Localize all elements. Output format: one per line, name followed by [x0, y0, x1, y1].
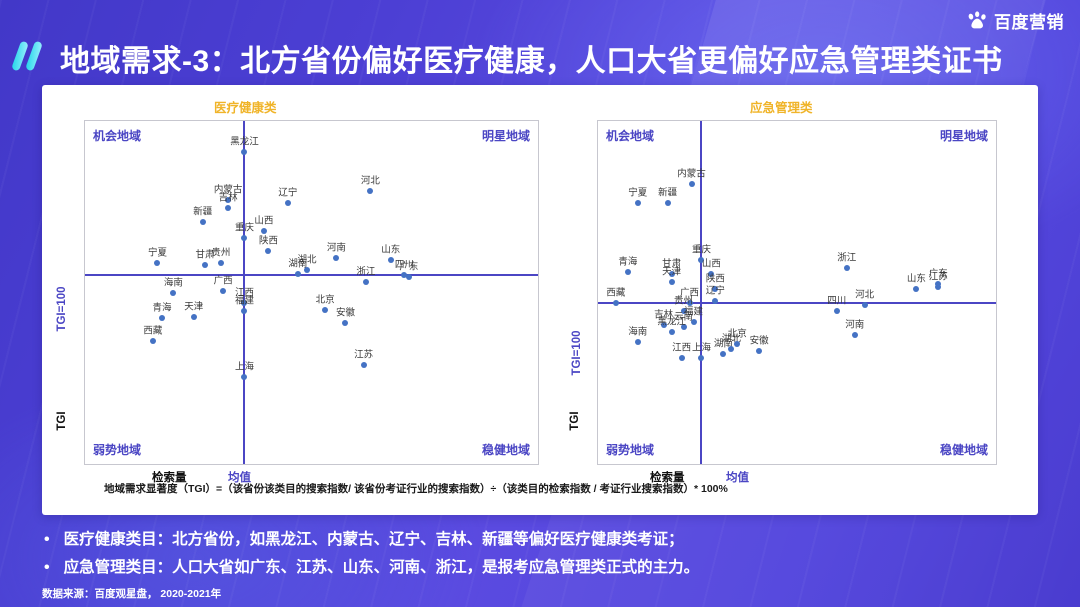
scatter-point [834, 308, 840, 314]
scatter-point [361, 362, 367, 368]
scatter-point-label: 海南 [164, 278, 183, 288]
scatter-point [756, 348, 762, 354]
scatter-point-label: 天津 [662, 268, 681, 278]
scatter-point [342, 320, 348, 326]
scatter-point-label: 宁夏 [628, 189, 647, 199]
scatter-point [241, 374, 247, 380]
scatter-point-label: 重庆 [235, 223, 254, 233]
scatter-point-label: 山西 [702, 259, 721, 269]
quadrant-label-weak: 弱势地域 [606, 441, 654, 458]
list-item: • 医疗健康类目：北方省份，如黑龙江、内蒙古、辽宁、吉林、新疆等偏好医疗健康类考… [44, 526, 1024, 554]
insight-bullet-list: • 医疗健康类目：北方省份，如黑龙江、内蒙古、辽宁、吉林、新疆等偏好医疗健康类考… [44, 526, 1024, 582]
scatter-point-label: 重庆 [692, 245, 711, 255]
scatter-point-label: 福建 [235, 297, 254, 307]
scatter-point [635, 200, 641, 206]
scatter-point-label: 辽宁 [706, 287, 725, 297]
scatter-point [170, 290, 176, 296]
data-source-note: 数据来源：百度观星盘， 2020-2021年 [42, 586, 221, 601]
scatter-point [241, 235, 247, 241]
scatter-point [712, 298, 718, 304]
tgi100-horizontal-line [598, 302, 996, 304]
scatter-point [154, 260, 160, 266]
scatter-point-label: 贵州 [674, 297, 693, 307]
quadrant-label-opportunity: 机会地域 [606, 127, 654, 144]
scatter-point-label: 浙江 [837, 254, 856, 264]
scatter-point-label: 山东 [907, 275, 926, 285]
scatter-point-label: 浙江 [356, 268, 375, 278]
brand-name: 百度营销 [994, 8, 1064, 33]
scatter-point [265, 248, 271, 254]
scatter-point [322, 307, 328, 313]
quadrant-label-steady: 稳健地域 [482, 441, 530, 458]
bullet-marker-icon: • [44, 554, 50, 582]
scatter-point [734, 341, 740, 347]
content-card: 医疗健康类 应急管理类 机会地域 明星地域 弱势地域 稳健地域 黑龙江内蒙古吉林… [42, 85, 1038, 515]
double-slash-accent-icon [0, 33, 56, 84]
scatter-point [150, 338, 156, 344]
scatter-point-label: 山东 [381, 245, 400, 255]
scatter-point-label: 上海 [692, 343, 711, 353]
scatter-point-label: 河北 [361, 177, 380, 187]
y-axis-tgi-label-left: TGI [56, 396, 68, 446]
scatter-point-label: 四川 [827, 297, 846, 307]
scatter-point-label: 安徽 [336, 309, 355, 319]
scatter-point-label: 辽宁 [278, 189, 297, 199]
scatter-point-label: 海南 [628, 328, 647, 338]
scatter-point-label: 吉林 [219, 194, 238, 204]
scatter-point-label: 贵州 [211, 249, 230, 259]
scatter-point-label: 上海 [235, 362, 254, 372]
scatter-point-label: 山西 [254, 216, 273, 226]
scatter-point [679, 355, 685, 361]
scatter-point [295, 271, 301, 277]
scatter-point-label: 西藏 [606, 288, 625, 298]
scatter-point [285, 200, 291, 206]
scatter-point-label: 河南 [845, 321, 864, 331]
scatter-point [218, 260, 224, 266]
scatter-point [225, 205, 231, 211]
scatter-point-label: 西藏 [143, 326, 162, 336]
scatter-point [202, 262, 208, 268]
scatter-point-label: 河南 [327, 244, 346, 254]
tgi-formula-note: 地域需求显著度（TGI）=（该省份该类目的搜索指数/ 该省份考证行业的搜索指数）… [104, 481, 728, 496]
scatter-point-label: 江西 [672, 343, 691, 353]
scatter-point-label: 内蒙古 [677, 170, 706, 180]
baidu-paw-icon [966, 10, 988, 32]
scatter-point-label: 河北 [855, 290, 874, 300]
scatter-point-label: 湖北 [297, 256, 316, 266]
scatter-point [191, 314, 197, 320]
scatter-point-label: 安徽 [750, 336, 769, 346]
list-item: • 应急管理类目：人口大省如广东、江苏、山东、河南、浙江，是报考应急管理类正式的… [44, 554, 1024, 582]
x-axis-mean-label-right: 均值 [726, 469, 749, 485]
brand-logo: 百度营销 [966, 8, 1064, 33]
scatter-point-label: 广东 [929, 269, 948, 279]
scatter-point [852, 332, 858, 338]
quadrant-label-opportunity: 机会地域 [93, 127, 141, 144]
scatter-point [862, 302, 868, 308]
scatter-point [363, 279, 369, 285]
scatter-point-label: 新疆 [658, 189, 677, 199]
y-axis-tgi100-label-left: TGI=100 [56, 279, 68, 339]
scatter-point-label: 新疆 [193, 208, 212, 218]
scatter-point [669, 329, 675, 335]
scatter-point-label: 黑龙江 [657, 317, 686, 327]
scatter-point [367, 188, 373, 194]
page-title: 地域需求-3：北方省份偏好医疗健康，人口大省更偏好应急管理类证书 [60, 36, 1003, 80]
chart-title-medical: 医疗健康类 [214, 97, 277, 116]
scatter-point-label: 青海 [152, 304, 171, 314]
y-axis-tgi-label-right: TGI [569, 396, 581, 446]
scatter-point-label: 宁夏 [148, 249, 167, 259]
scatter-point [261, 228, 267, 234]
scatter-point-label: 陕西 [706, 275, 725, 285]
scatter-point-label: 黑龙江 [230, 137, 259, 147]
scatter-point [304, 267, 310, 273]
scatter-point-label: 广东 [399, 263, 418, 273]
bullet-text: 应急管理类目：人口大省如广东、江苏、山东、河南、浙江，是报考应急管理类正式的主力… [64, 554, 700, 582]
scatter-chart-emergency: 机会地域 明星地域 弱势地域 稳健地域 内蒙古宁夏新疆重庆青海甘肃天津山西陕西浙… [597, 120, 997, 465]
quadrant-label-weak: 弱势地域 [93, 441, 141, 458]
scatter-chart-medical: 机会地域 明星地域 弱势地域 稳健地域 黑龙江内蒙古吉林辽宁河北新疆重庆山西陕西… [84, 120, 539, 465]
bullet-marker-icon: • [44, 526, 50, 554]
scatter-point [625, 269, 631, 275]
scatter-point-label: 北京 [316, 295, 335, 305]
scatter-point [333, 255, 339, 261]
scatter-point [844, 265, 850, 271]
y-axis-tgi100-label-right: TGI=100 [571, 323, 583, 383]
scatter-point [669, 279, 675, 285]
quadrant-label-steady: 稳健地域 [940, 441, 988, 458]
scatter-point [220, 288, 226, 294]
scatter-point [159, 315, 165, 321]
scatter-point-label: 北京 [728, 329, 747, 339]
scatter-point-label: 江苏 [354, 350, 373, 360]
chart-title-emergency: 应急管理类 [750, 97, 813, 116]
scatter-point [241, 308, 247, 314]
scatter-point [935, 281, 941, 287]
scatter-point [913, 286, 919, 292]
scatter-point [698, 355, 704, 361]
scatter-point-label: 广西 [214, 276, 233, 286]
scatter-point [613, 300, 619, 306]
quadrant-label-star: 明星地域 [940, 127, 988, 144]
scatter-point [720, 351, 726, 357]
scatter-point [665, 200, 671, 206]
bullet-text: 医疗健康类目：北方省份，如黑龙江、内蒙古、辽宁、吉林、新疆等偏好医疗健康类考证； [64, 526, 684, 554]
scatter-point [728, 346, 734, 352]
scatter-point [689, 181, 695, 187]
scatter-point-label: 青海 [618, 257, 637, 267]
page-title-row: 地域需求-3：北方省份偏好医疗健康，人口大省更偏好应急管理类证书 [0, 33, 1080, 83]
tgi100-horizontal-line [85, 274, 538, 276]
scatter-point [241, 149, 247, 155]
scatter-point [635, 339, 641, 345]
quadrant-label-star: 明星地域 [482, 127, 530, 144]
scatter-point [200, 219, 206, 225]
scatter-point [406, 274, 412, 280]
scatter-point-label: 陕西 [259, 237, 278, 247]
scatter-point-label: 天津 [184, 302, 203, 312]
scatter-point [388, 257, 394, 263]
